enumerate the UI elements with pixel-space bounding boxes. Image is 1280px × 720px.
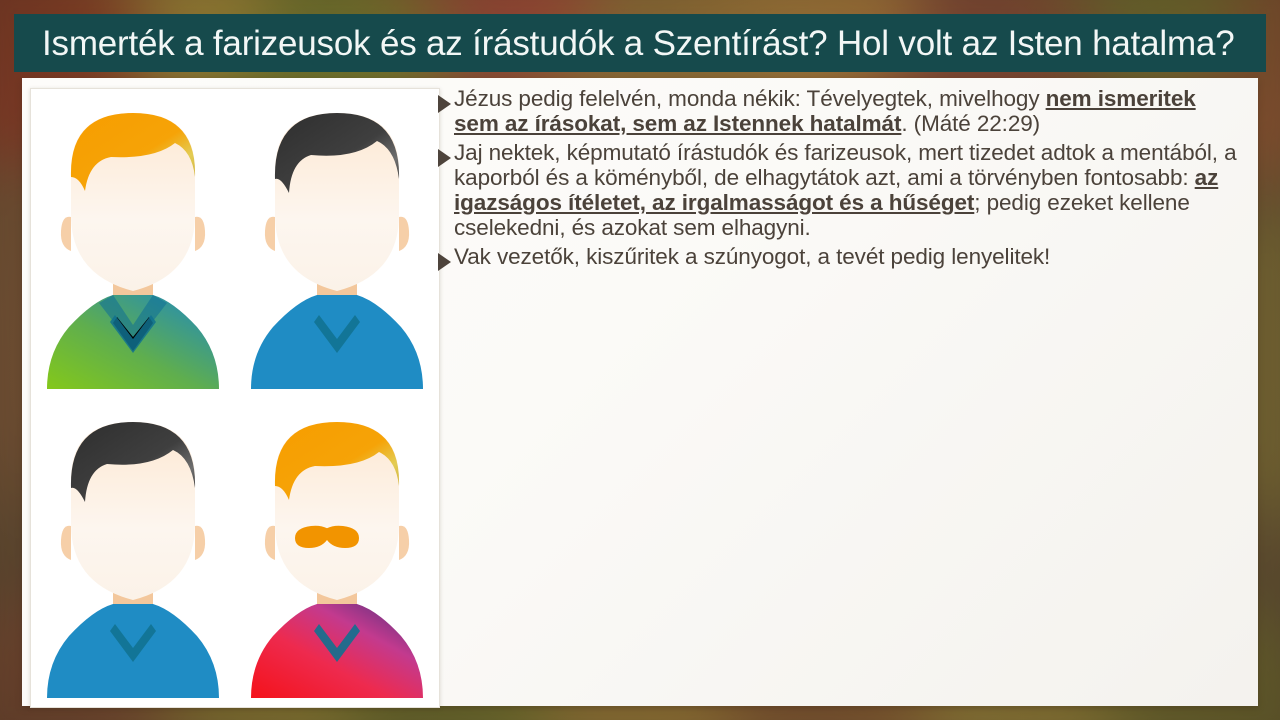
bullet-text-2: Jaj nektek, képmutató írástudók és fariz… <box>454 140 1238 240</box>
avatar-image-frame <box>30 88 440 708</box>
avatar-illustration <box>239 408 435 698</box>
bullet-text-3: Vak vezetők, kiszűritek a szúnyogot, a t… <box>454 244 1050 269</box>
avatar-illustration <box>239 99 435 389</box>
list-item: Jaj nektek, képmutató írástudók és fariz… <box>438 140 1238 240</box>
avatar-dark-blue-shirt-2 <box>31 398 235 707</box>
slide-title-bar: Ismerték a farizeusok és az írástudók a … <box>14 14 1266 72</box>
avatar-dark-blue-shirt <box>235 89 439 398</box>
triangle-right-icon <box>438 149 451 167</box>
list-item: Jézus pedig felelvén, monda nékik: Tével… <box>438 86 1238 136</box>
list-item: Vak vezetők, kiszűritek a szúnyogot, a t… <box>438 244 1238 271</box>
avatar-grid <box>31 89 439 707</box>
page-title: Ismerték a farizeusok és az írástudók a … <box>14 26 1234 61</box>
avatar-blond-green-shirt <box>31 89 235 398</box>
triangle-right-icon <box>438 95 451 113</box>
presentation-slide: Ismerték a farizeusok és az írástudók a … <box>0 0 1280 720</box>
avatar-blond-mustache-red-shirt <box>235 398 439 707</box>
avatar-illustration <box>35 408 231 698</box>
triangle-right-icon <box>438 253 451 271</box>
bullet-text-1: Jézus pedig felelvén, monda nékik: Tével… <box>454 86 1238 136</box>
slide-body-text: Jézus pedig felelvén, monda nékik: Tével… <box>438 86 1238 275</box>
avatar-illustration <box>35 99 231 389</box>
